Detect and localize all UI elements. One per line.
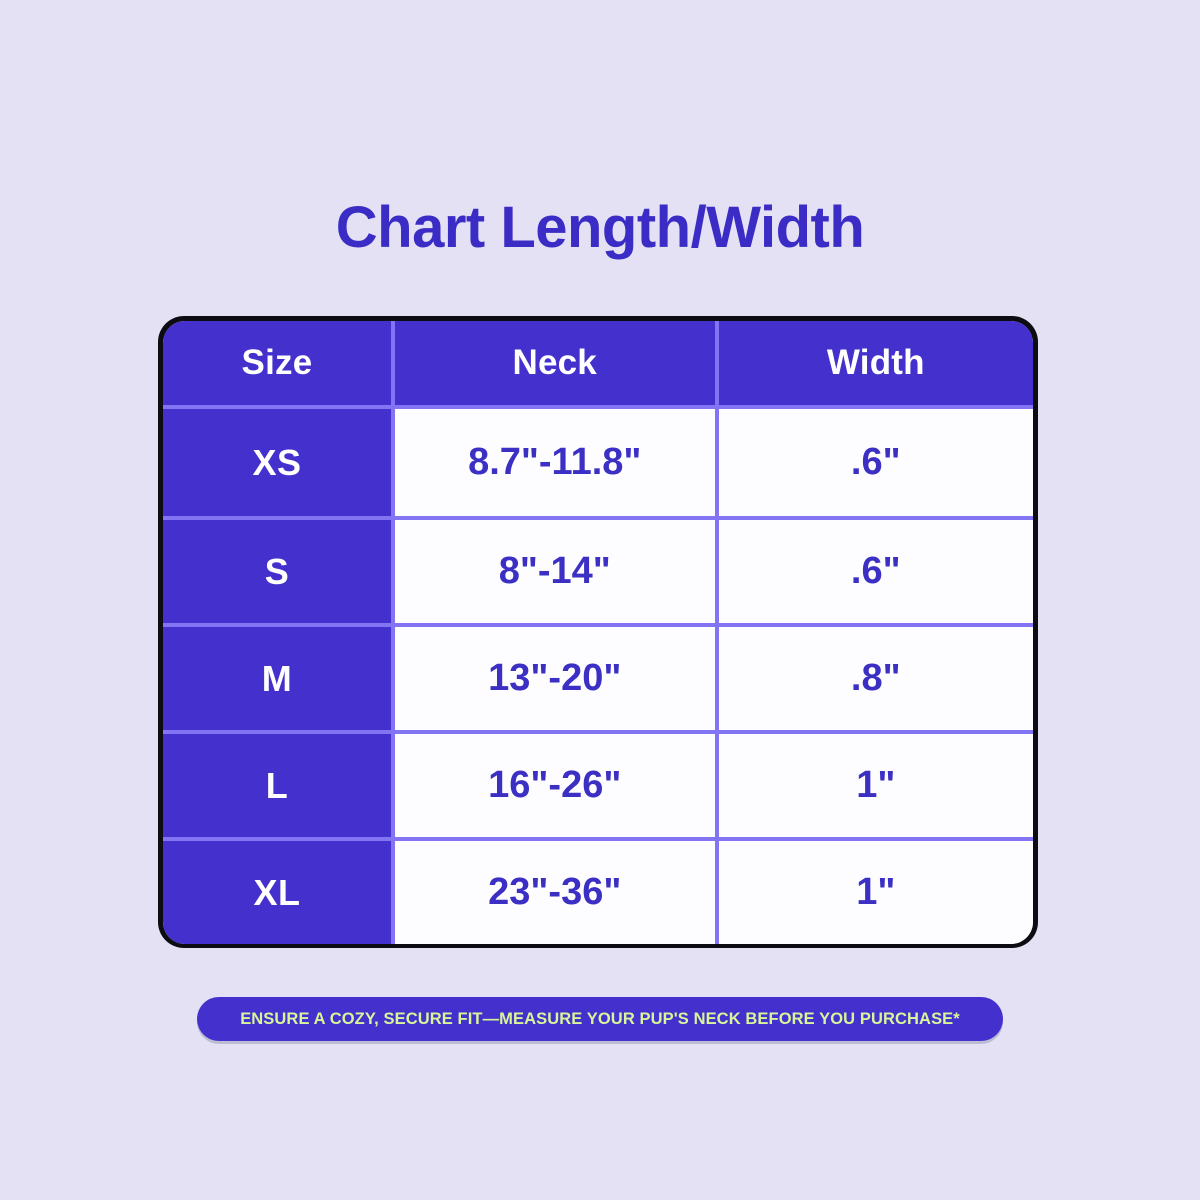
table-row: S 8"-14" .6" xyxy=(163,516,1033,623)
cell-neck: 8.7"-11.8" xyxy=(391,409,715,516)
cell-width: 1" xyxy=(715,730,1033,837)
cell-neck: 8"-14" xyxy=(391,516,715,623)
cell-neck: 23"-36" xyxy=(391,837,715,944)
cell-width: .6" xyxy=(715,516,1033,623)
cell-neck: 13"-20" xyxy=(391,623,715,730)
cell-size: XL xyxy=(163,837,391,944)
cell-size: L xyxy=(163,730,391,837)
size-chart-card: Size Neck Width XS 8.7"-11.8" .6" S 8"-1… xyxy=(158,316,1038,948)
size-chart-page: Chart Length/Width Size Neck Width XS 8.… xyxy=(0,0,1200,1200)
table-row: L 16"-26" 1" xyxy=(163,730,1033,837)
table-header-row: Size Neck Width xyxy=(163,321,1033,409)
table-header: Size Neck Width xyxy=(163,321,1033,409)
cell-size: XS xyxy=(163,409,391,516)
size-chart-table: Size Neck Width XS 8.7"-11.8" .6" S 8"-1… xyxy=(163,321,1033,944)
column-header-neck: Neck xyxy=(391,321,715,409)
cell-size: S xyxy=(163,516,391,623)
table-row: XS 8.7"-11.8" .6" xyxy=(163,409,1033,516)
cell-width: .6" xyxy=(715,409,1033,516)
cell-neck: 16"-26" xyxy=(391,730,715,837)
column-header-width: Width xyxy=(715,321,1033,409)
footer-note-banner: ENSURE A COZY, SECURE FIT—MEASURE YOUR P… xyxy=(197,997,1003,1041)
table-body: XS 8.7"-11.8" .6" S 8"-14" .6" M 13"-20"… xyxy=(163,409,1033,944)
page-title: Chart Length/Width xyxy=(0,196,1200,260)
cell-width: 1" xyxy=(715,837,1033,944)
table-row: XL 23"-36" 1" xyxy=(163,837,1033,944)
cell-width: .8" xyxy=(715,623,1033,730)
footer-note-text: ENSURE A COZY, SECURE FIT—MEASURE YOUR P… xyxy=(240,1010,960,1029)
column-header-size: Size xyxy=(163,321,391,409)
cell-size: M xyxy=(163,623,391,730)
table-row: M 13"-20" .8" xyxy=(163,623,1033,730)
